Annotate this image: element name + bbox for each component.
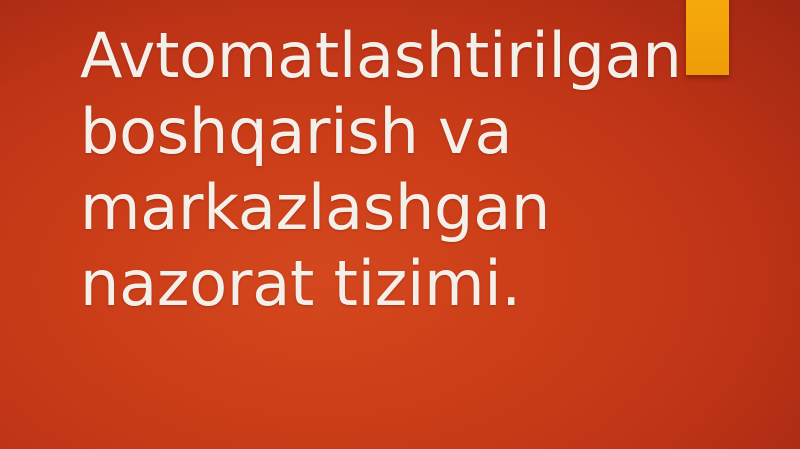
- title-slide: Avtomatlashtirilgan boshqarish va markaz…: [0, 0, 800, 449]
- title-line-4: nazorat tizimi.: [80, 246, 680, 322]
- title-line-1: Avtomatlashtirilgan: [80, 18, 680, 94]
- accent-rectangle: [686, 0, 729, 75]
- title-line-2: boshqarish va: [80, 94, 680, 170]
- title-line-3: markazlashgan: [80, 170, 680, 246]
- slide-title: Avtomatlashtirilgan boshqarish va markaz…: [80, 18, 680, 322]
